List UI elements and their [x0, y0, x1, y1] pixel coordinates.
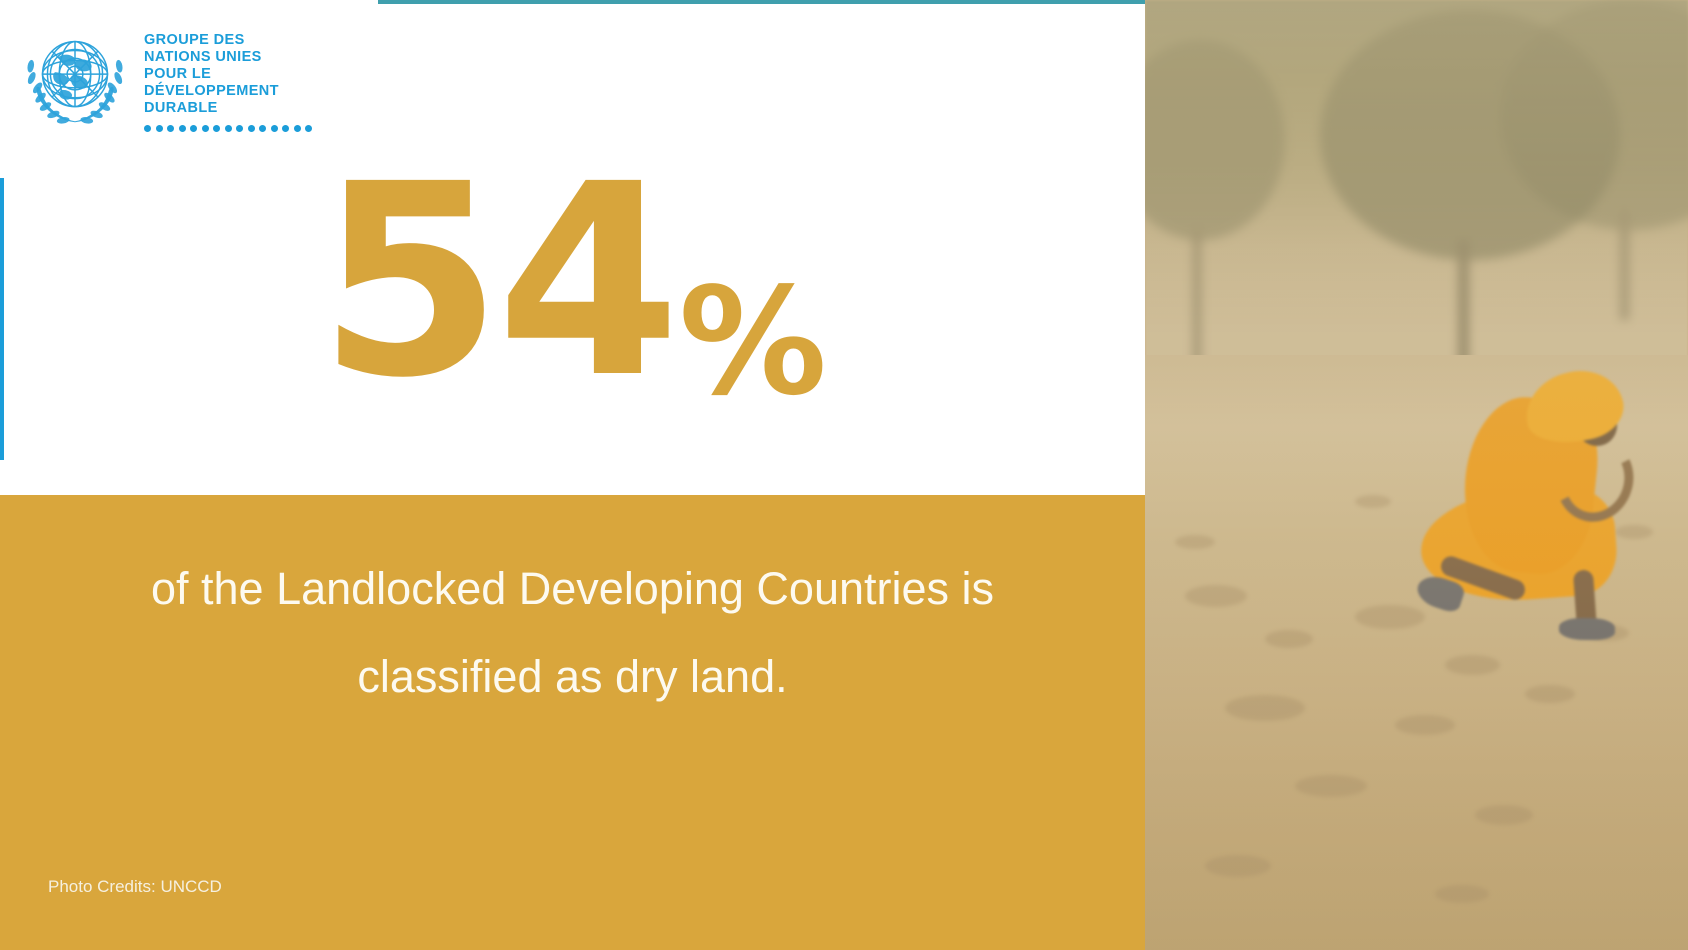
- photo-credit-text: Photo Credits: UNCCD: [48, 877, 222, 897]
- logo-line-3: POUR LE: [144, 66, 312, 83]
- statistic-unit: %: [679, 268, 827, 416]
- top-accent-rule: [378, 0, 1145, 4]
- logo-line-5: DURABLE: [144, 100, 312, 117]
- child-running-in-dust-storm-photo: [1145, 0, 1688, 950]
- undg-logo-text: GROUPE DES NATIONS UNIES POUR LE DÉVELOP…: [144, 28, 312, 132]
- statistic-block: 54 %: [0, 150, 1145, 450]
- logo-line-1: GROUPE DES: [144, 32, 312, 49]
- slide-root: GROUPE DES NATIONS UNIES POUR LE DÉVELOP…: [0, 0, 1688, 950]
- running-person-figure: [1407, 372, 1657, 632]
- logo-line-2: NATIONS UNIES: [144, 49, 312, 66]
- undg-logo: GROUPE DES NATIONS UNIES POUR LE DÉVELOP…: [0, 0, 358, 160]
- tree-icon: [1320, 10, 1620, 370]
- caption-text: of the Landlocked Developing Countries i…: [70, 545, 1075, 721]
- logo-dot-row: [144, 125, 312, 132]
- caption-band: of the Landlocked Developing Countries i…: [0, 495, 1145, 950]
- un-emblem-icon: [16, 21, 134, 139]
- content-column: GROUPE DES NATIONS UNIES POUR LE DÉVELOP…: [0, 0, 1145, 950]
- statistic-number: 54: [318, 150, 675, 415]
- tree-icon: [1145, 40, 1285, 370]
- logo-line-4: DÉVELOPPEMENT: [144, 83, 312, 100]
